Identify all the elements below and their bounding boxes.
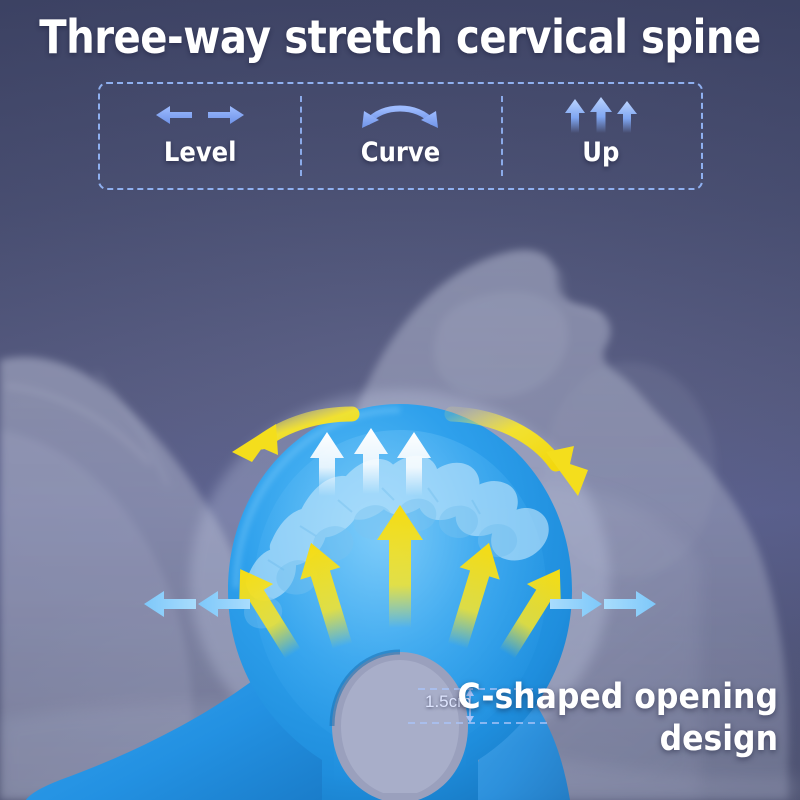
product-caption: C-shaped opening design: [448, 676, 778, 760]
white-up-arrows: [310, 428, 431, 496]
product-infographic: Three-way stretch cervical spine Level: [0, 0, 800, 800]
